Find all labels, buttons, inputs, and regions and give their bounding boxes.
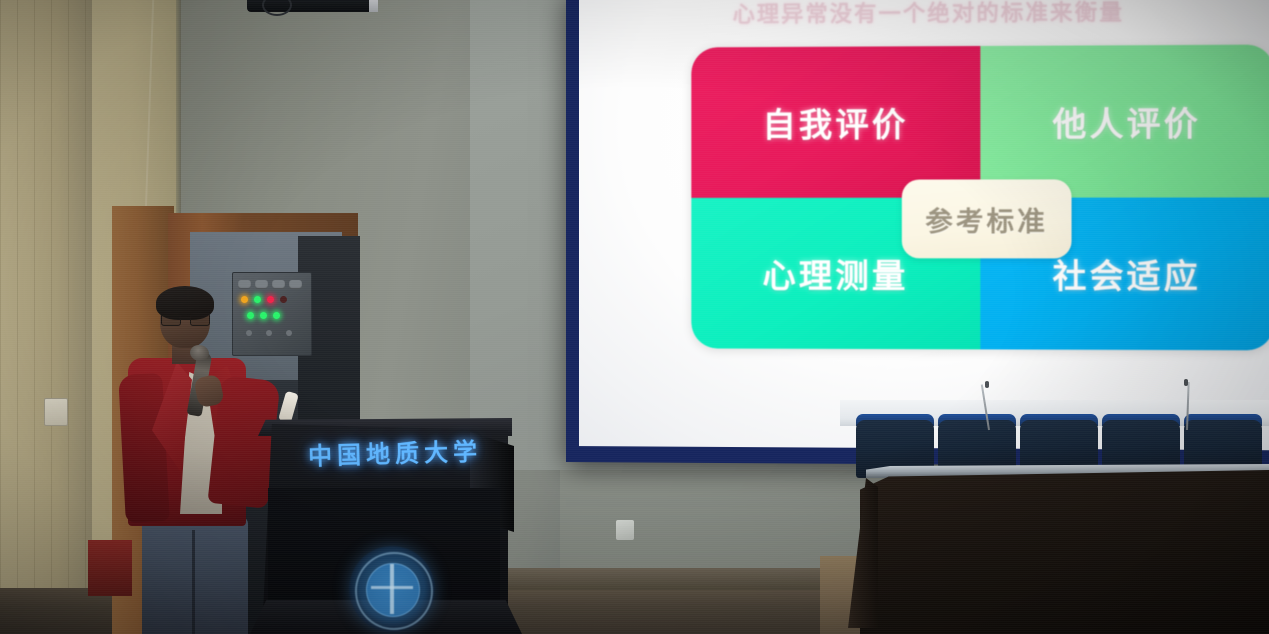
control-panel-led-row-2 xyxy=(247,312,280,319)
led-indicator-green xyxy=(254,296,261,303)
glasses-bridge xyxy=(179,317,190,319)
led-indicator-red xyxy=(267,296,274,303)
panel-knob[interactable] xyxy=(266,330,272,336)
wall-panel-grooves xyxy=(0,0,92,634)
table-microphone-tip xyxy=(985,381,989,388)
slide-title: 心理异常没有一个绝对的标准来衡量 xyxy=(579,0,1269,30)
wall-outlet xyxy=(44,398,68,426)
quadrant-label: 心理测量 xyxy=(762,249,908,298)
glasses-lens-right xyxy=(190,313,210,326)
led-indicator-green xyxy=(260,312,267,319)
led-indicator-green xyxy=(273,312,280,319)
university-emblem xyxy=(349,546,435,632)
quadrant-others-evaluation: 他人评价 xyxy=(980,45,1269,198)
ceiling-speaker-trim xyxy=(369,0,378,12)
led-indicator-orange xyxy=(241,296,248,303)
led-indicator-green xyxy=(247,312,254,319)
podium-university-name: 中国地质大学 xyxy=(300,431,491,471)
control-panel-switch-row[interactable] xyxy=(238,280,304,289)
quadrant-label: 自我评价 xyxy=(762,98,908,147)
floor-red-object xyxy=(88,540,132,596)
emblem-horizontal-bar xyxy=(371,586,413,589)
panel-knob[interactable] xyxy=(286,330,292,336)
projection-screen: 心理异常没有一个绝对的标准来衡量 自我评价 他人评价 心理测量 社会适应 参考标… xyxy=(566,0,1269,467)
lecture-hall-photo: 心理异常没有一个绝对的标准来衡量 自我评价 他人评价 心理测量 社会适应 参考标… xyxy=(0,0,1269,634)
quadrant-label: 他人评价 xyxy=(1053,97,1201,146)
speaker-legs xyxy=(142,516,248,634)
led-indicator-off xyxy=(280,296,287,303)
speaker-leg-seam xyxy=(192,530,195,634)
panel-switch[interactable] xyxy=(238,280,251,289)
panel-switch[interactable] xyxy=(272,280,285,289)
panel-switch[interactable] xyxy=(255,280,268,289)
center-badge-label: 参考标准 xyxy=(925,199,1048,239)
panel-knob[interactable] xyxy=(246,330,252,336)
conference-table xyxy=(860,470,1269,634)
wall-outlet xyxy=(616,520,634,540)
speaker-left-arm xyxy=(118,373,170,523)
table-microphone-tip xyxy=(1184,379,1188,386)
slide-center-badge: 参考标准 xyxy=(902,179,1072,258)
panel-switch[interactable] xyxy=(289,280,302,289)
glasses-lens-left xyxy=(161,313,181,326)
projection-screen-surface: 心理异常没有一个绝对的标准来衡量 自我评价 他人评价 心理测量 社会适应 参考标… xyxy=(579,0,1269,450)
emblem-vertical-bar xyxy=(390,564,394,614)
control-panel-led-row-1 xyxy=(241,296,287,303)
speaker-glasses xyxy=(161,313,208,324)
quadrant-label: 社会适应 xyxy=(1053,249,1201,298)
quadrant-self-evaluation: 自我评价 xyxy=(691,46,980,198)
